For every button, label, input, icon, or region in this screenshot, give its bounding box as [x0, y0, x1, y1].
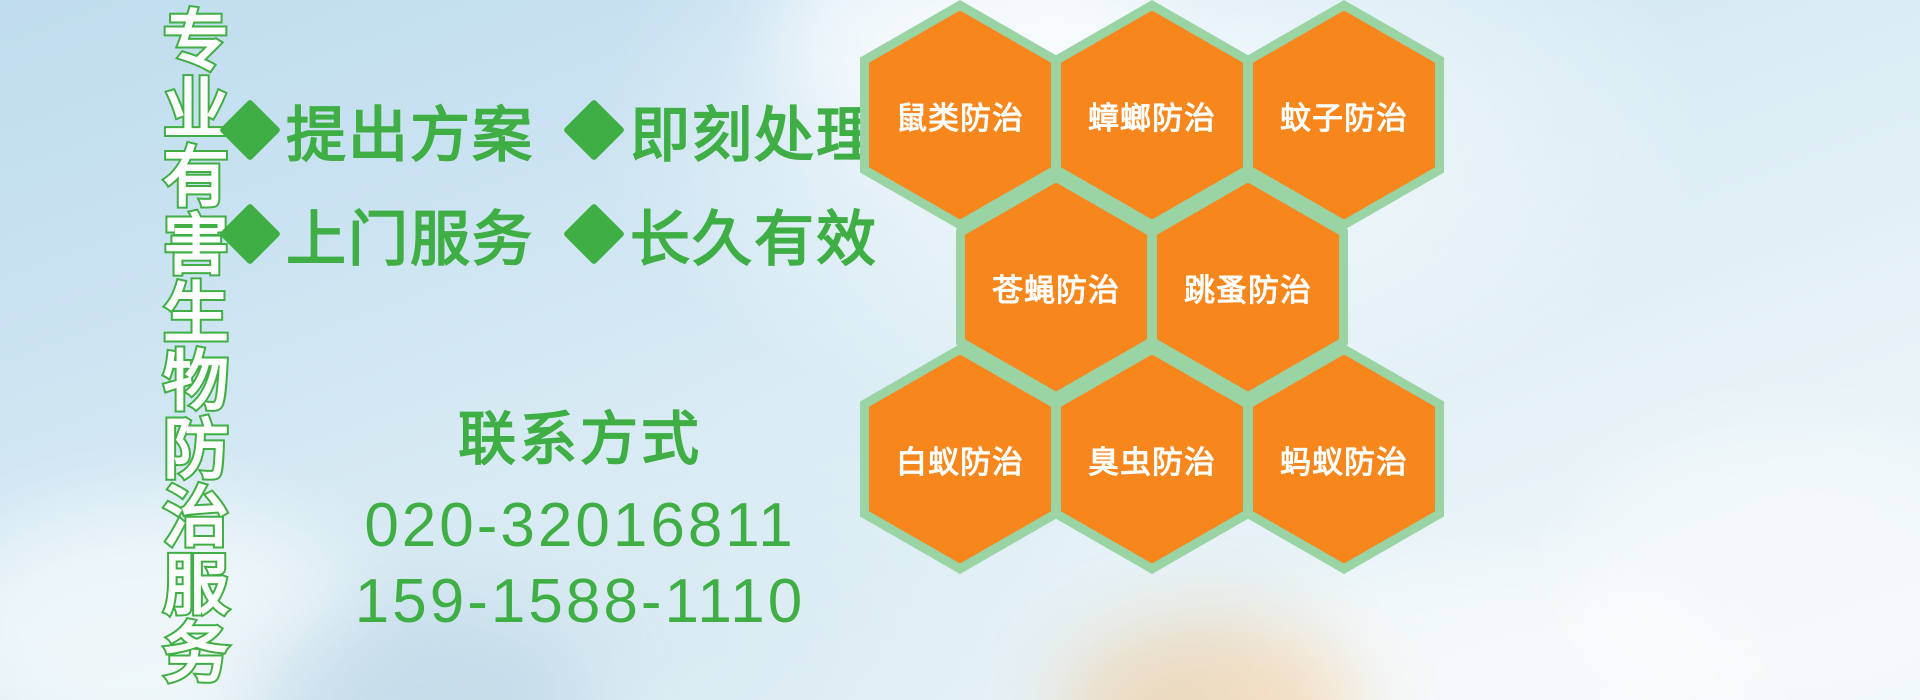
hex-inner: 鼠类防治: [869, 11, 1051, 220]
diamond-icon: [219, 203, 281, 265]
background-blob: [1560, 430, 1920, 700]
hex-inner: 蚊子防治: [1253, 11, 1435, 220]
service-label: 苍蝇防治: [992, 265, 1120, 310]
feature-item-onsite-service: 上门服务: [228, 191, 534, 278]
feature-list: 提出方案 即刻处理 上门服务 长久有效: [228, 78, 878, 286]
service-label: 蚊子防治: [1280, 93, 1408, 138]
hex-inner: 臭虫防治: [1061, 355, 1243, 564]
feature-item-long-lasting: 长久有效: [572, 191, 878, 278]
feature-row: 上门服务 长久有效: [228, 182, 878, 286]
contact-title: 联系方式: [300, 392, 860, 476]
service-label: 蟑螂防治: [1088, 93, 1216, 138]
vertical-banner-title: 专业有害生物防治服务: [104, 6, 224, 686]
service-label: 跳蚤防治: [1184, 265, 1312, 310]
feature-label: 上门服务: [286, 191, 534, 278]
service-hexagon-grid: 鼠类防治 蟑螂防治 蚊子防治 苍蝇防治 跳蚤防治 白蚁防治: [852, 0, 1452, 692]
service-label: 白蚁防治: [896, 437, 1024, 482]
pest-control-banner: 专业有害生物防治服务 提出方案 即刻处理 上门服务 长久有效: [0, 0, 1920, 700]
feature-label: 长久有效: [630, 191, 878, 278]
diamond-icon: [563, 203, 625, 265]
hex-inner: 跳蚤防治: [1157, 183, 1339, 392]
contact-block: 联系方式 020-32016811 159-1588-1110: [300, 392, 860, 639]
feature-label: 即刻处理: [630, 87, 878, 174]
service-label: 蚂蚁防治: [1280, 437, 1408, 482]
phone-number-mobile[interactable]: 159-1588-1110: [300, 564, 860, 640]
service-label: 臭虫防治: [1088, 437, 1216, 482]
feature-item-immediate-handling: 即刻处理: [572, 87, 878, 174]
feature-row: 提出方案 即刻处理: [228, 78, 878, 182]
phone-number-landline[interactable]: 020-32016811: [300, 488, 860, 564]
hex-inner: 白蚁防治: [869, 355, 1051, 564]
feature-item-propose-plan: 提出方案: [228, 87, 534, 174]
hex-inner: 蚂蚁防治: [1253, 355, 1435, 564]
diamond-icon: [563, 99, 625, 161]
feature-label: 提出方案: [286, 87, 534, 174]
hex-inner: 苍蝇防治: [965, 183, 1147, 392]
hex-inner: 蟑螂防治: [1061, 11, 1243, 220]
service-label: 鼠类防治: [896, 93, 1024, 138]
diamond-icon: [219, 99, 281, 161]
